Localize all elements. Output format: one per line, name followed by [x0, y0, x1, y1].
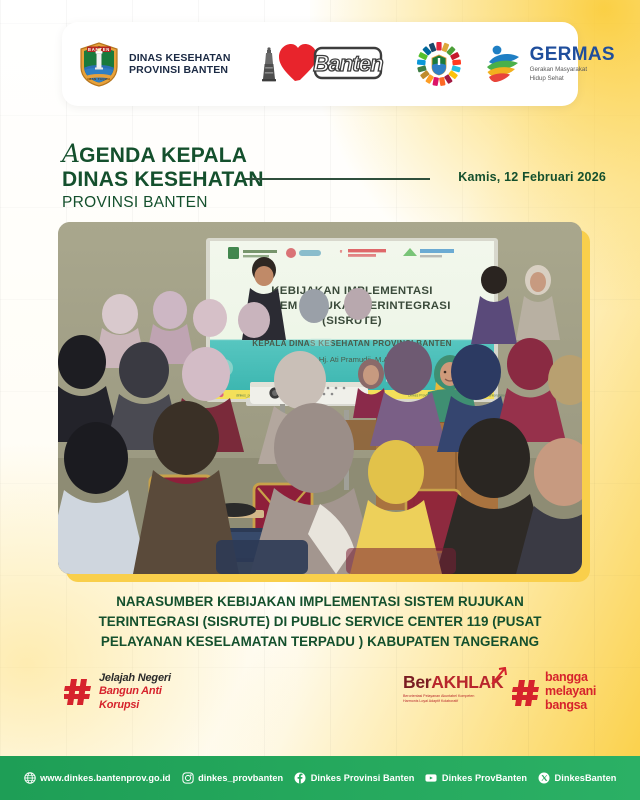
germas-sub-line-2: Hidup Sehat [530, 75, 615, 83]
bangga-line-1: bangga [545, 670, 596, 684]
footer-item-x-twitter[interactable]: DinkesBanten [538, 772, 616, 784]
berakhlak-title: BerAKHLAK [403, 674, 503, 692]
event-photo: # KEBIJAKAN IMPLEMENTASI SISTEM RUJUKAN … [58, 222, 582, 574]
caption-line-2: TERINTEGRASI (SISRUTE) DI PUBLIC SERVICE… [72, 612, 568, 632]
header-logo-card: BANTEN IMAN TAQWA DINAS KESEHATAN PROVIN… [62, 22, 578, 106]
jelajah-wordmark: Jelajah Negeri Bangun Anti Korupsi [99, 672, 171, 712]
event-caption: NARASUMBER KEBIJAKAN IMPLEMENTASI SISTEM… [72, 592, 568, 652]
footer-item-instagram[interactable]: dinkes_provbanten [182, 772, 284, 784]
dinkes-line-1: DINAS KESEHATAN [129, 52, 231, 64]
globe-icon [24, 772, 36, 784]
title-line-2: DINAS KESEHATAN [62, 168, 264, 192]
agenda-date: Kamis, 12 Februari 2026 [458, 170, 606, 184]
title-script-initial: A [62, 139, 79, 168]
svg-text:#: # [340, 249, 343, 254]
social-footer-bar: www.dinkes.bantenprov.go.id dinkes_provb… [0, 756, 640, 800]
footer-label-x-twitter: DinkesBanten [555, 773, 617, 783]
hashtag-icon [64, 677, 92, 707]
berakhlak-prefix: Ber [403, 672, 431, 692]
berakhlak-sub-line-2: Harmonis Loyal Adaptif Kolaboratif [403, 699, 495, 704]
banten-heart-wordmark: Banten [278, 40, 386, 89]
logo-jelajah-negeri: Jelajah Negeri Bangun Anti Korupsi [64, 672, 171, 712]
germas-sub-line-1: Gerakan Masyarakat [530, 66, 615, 74]
berakhlak-subtitle: Berorientasi Pelayanan Akuntabel Kompete… [403, 694, 495, 705]
facebook-icon [294, 772, 306, 784]
caption-line-3: PELAYANAN KESELAMATAN TERPADU ) KABUPATE… [72, 632, 568, 652]
youtube-icon [425, 772, 437, 784]
footer-item-youtube[interactable]: Dinkes ProvBanten [425, 772, 527, 784]
banten-provincial-crest-icon: BANTEN IMAN TAQWA [78, 40, 120, 88]
lighthouse-icon [261, 46, 277, 82]
bangga-line-2: melayani [545, 684, 596, 698]
jelajah-line-3: Korupsi [99, 699, 171, 712]
poster-canvas: BANTEN IMAN TAQWA DINAS KESEHATAN PROVIN… [0, 0, 640, 800]
logo-banten-tourism: Banten [261, 40, 386, 89]
x-twitter-icon [538, 772, 550, 784]
title-line-3: PROVINSI BANTEN [62, 193, 264, 213]
logo-dinkes-banten: BANTEN IMAN TAQWA DINAS KESEHATAN PROVIN… [78, 40, 231, 88]
bangga-line-3: bangsa [545, 698, 596, 712]
title-divider-rule [245, 178, 430, 180]
bangga-wordmark: bangga melayani bangsa [545, 670, 596, 712]
footer-label-website: www.dinkes.bantenprov.go.id [40, 773, 171, 783]
logo-bangga-melayani-bangsa: bangga melayani bangsa [512, 670, 596, 712]
germas-figure-icon [484, 43, 524, 85]
footer-item-website[interactable]: www.dinkes.bantenprov.go.id [24, 772, 171, 784]
bangga-hashtag-icon [512, 676, 540, 706]
dinkes-line-2: PROVINSI BANTEN [129, 64, 231, 76]
page-title: AGENDA KEPALA DINAS KESEHATAN PROVINSI B… [62, 140, 264, 213]
svg-text:IMAN TAQWA: IMAN TAQWA [87, 77, 111, 81]
berakhlak-swoosh-icon [491, 667, 507, 690]
instagram-icon [182, 772, 194, 784]
dinkes-wordmark: DINAS KESEHATAN PROVINSI BANTEN [129, 52, 231, 77]
germas-title: GERMAS [530, 45, 615, 64]
svg-text:Banten: Banten [313, 51, 383, 76]
germas-wordmark: GERMAS Gerakan Masyarakat Hidup Sehat [530, 45, 615, 83]
footer-label-instagram: dinkes_provbanten [198, 773, 283, 783]
event-photo-frame: # KEBIJAKAN IMPLEMENTASI SISTEM RUJUKAN … [58, 222, 582, 574]
logo-germas: GERMAS Gerakan Masyarakat Hidup Sehat [484, 43, 615, 85]
caption-line-1: NARASUMBER KEBIJAKAN IMPLEMENTASI SISTEM… [72, 592, 568, 612]
title-line-1: AGENDA KEPALA [62, 140, 264, 168]
jelajah-line-1: Jelajah Negeri [99, 672, 171, 685]
title-line-1-rest: GENDA KEPALA [79, 144, 247, 167]
footer-item-facebook[interactable]: Dinkes Provinsi Banten [294, 772, 414, 784]
jelajah-line-2: Bangun Anti [99, 685, 171, 698]
logo-berakhlak: BerAKHLAK Berorientasi Pelayanan Akuntab… [403, 674, 503, 704]
footer-label-youtube: Dinkes ProvBanten [442, 773, 527, 783]
footer-label-facebook: Dinkes Provinsi Banten [311, 773, 415, 783]
sdg-wheel-icon [416, 41, 462, 87]
